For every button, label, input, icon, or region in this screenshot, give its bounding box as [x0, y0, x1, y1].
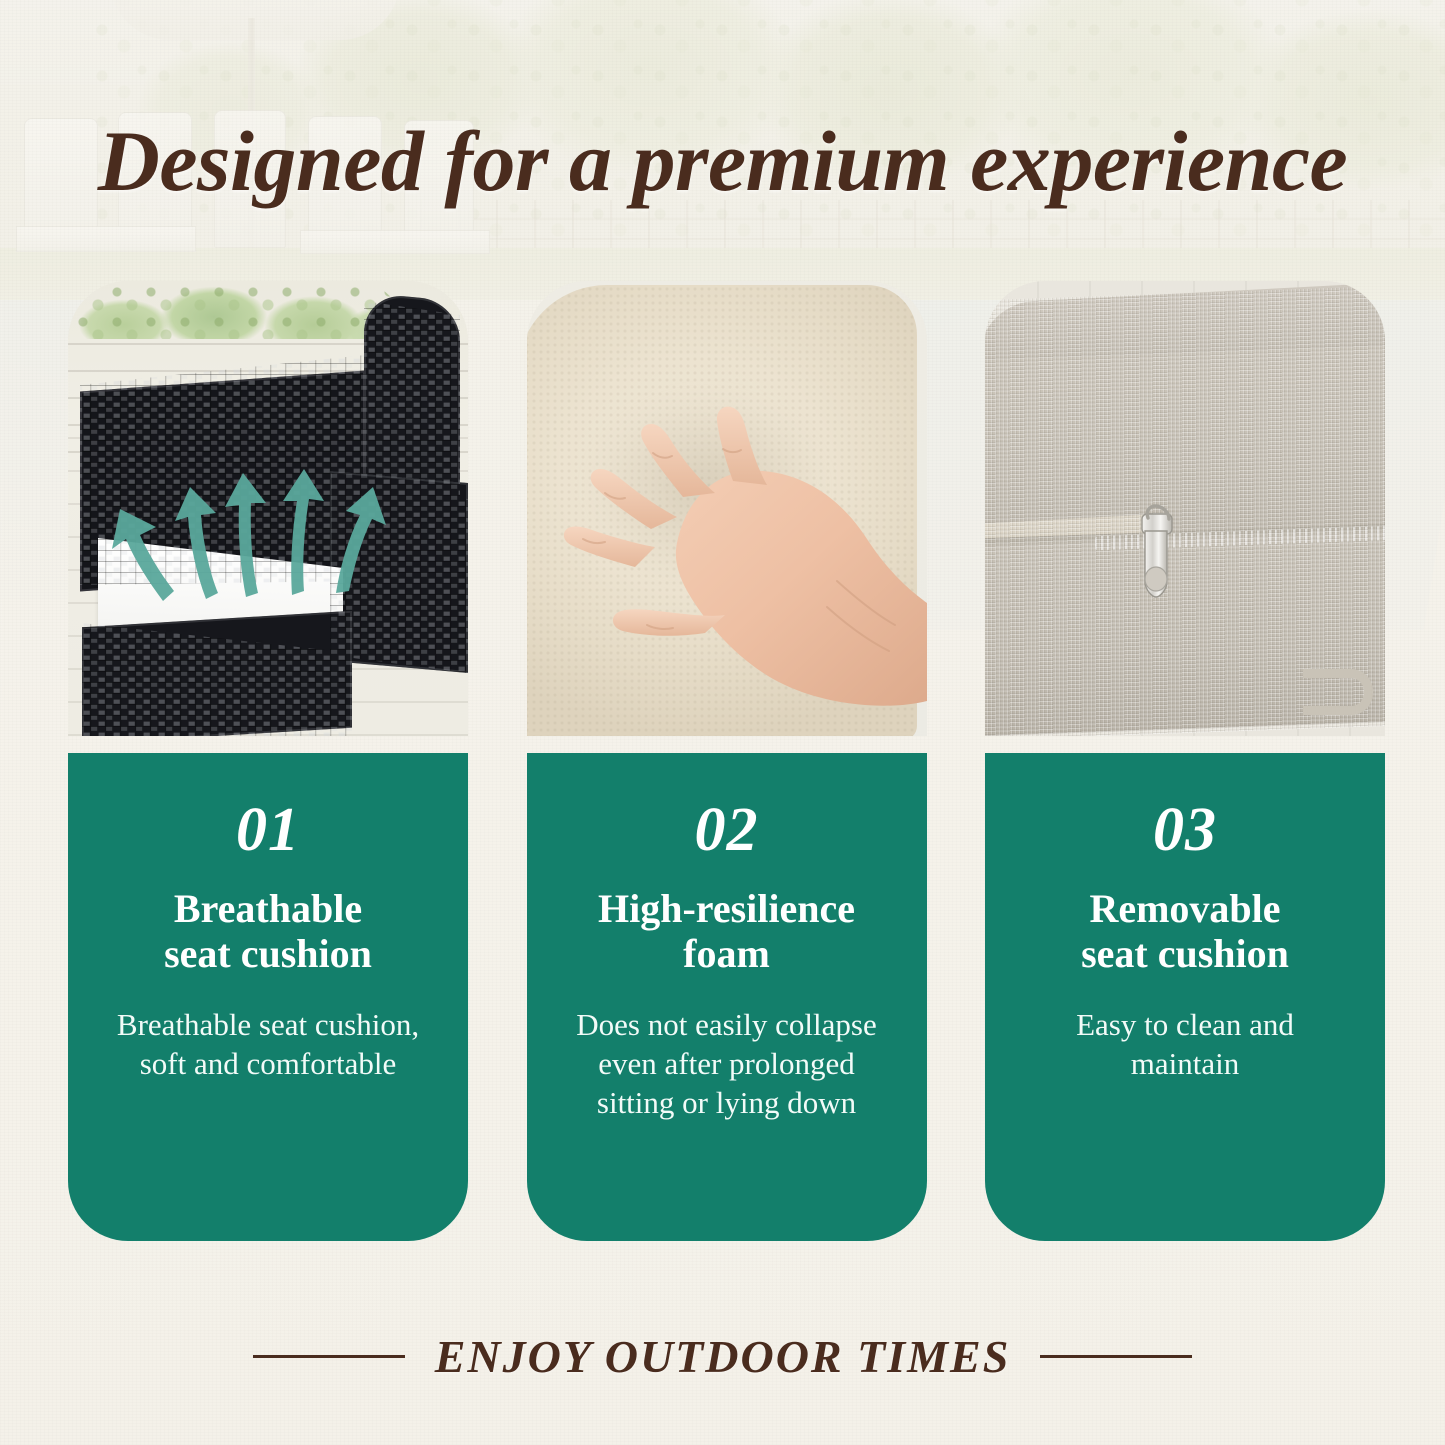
- card3-number: 03: [1007, 799, 1363, 861]
- photo2-hand-icon: [527, 281, 927, 736]
- card1-title: Breathable seat cushion: [90, 887, 446, 977]
- photo3-zipper-pull-icon: [985, 281, 1385, 736]
- card2-text-panel: 02 High-resilience foam Does not easily …: [527, 753, 927, 1241]
- card2-divider-gap: [527, 736, 927, 753]
- feature-card-3: 03 Removable seat cushion Easy to clean …: [985, 281, 1385, 1241]
- card3-text-panel: 03 Removable seat cushion Easy to clean …: [985, 753, 1385, 1241]
- feature-photo-high-resilience-foam: [527, 281, 927, 736]
- card2-number: 02: [549, 799, 905, 861]
- page-headline: Designed for a premium experience: [0, 118, 1445, 204]
- footer-banner: ENJOY OUTDOOR TIMES: [0, 1308, 1445, 1404]
- card3-description: Easy to clean and maintain: [1007, 1005, 1363, 1083]
- feature-card-1: 01 Breathable seat cushion Breathable se…: [68, 281, 468, 1241]
- card3-divider-gap: [985, 736, 1385, 753]
- card1-divider-gap: [68, 736, 468, 753]
- footer-tagline: ENJOY OUTDOOR TIMES: [435, 1330, 1011, 1383]
- feature-photo-removable-cushion: [985, 281, 1385, 736]
- feature-photo-breathable-cushion: [68, 281, 468, 736]
- card2-description: Does not easily collapse even after prol…: [549, 1005, 905, 1122]
- card1-number: 01: [90, 799, 446, 861]
- photo1-airflow-arrows-icon: [68, 281, 468, 736]
- feature-card-row: 01 Breathable seat cushion Breathable se…: [68, 281, 1385, 1241]
- card3-title: Removable seat cushion: [1007, 887, 1363, 977]
- card1-description: Breathable seat cushion, soft and comfor…: [90, 1005, 446, 1083]
- feature-card-2: 02 High-resilience foam Does not easily …: [527, 281, 927, 1241]
- footer-rule-right: [1040, 1355, 1192, 1358]
- infographic-canvas: Designed for a premium experience: [0, 0, 1445, 1445]
- footer-rule-left: [253, 1355, 405, 1358]
- card2-title: High-resilience foam: [549, 887, 905, 977]
- card1-text-panel: 01 Breathable seat cushion Breathable se…: [68, 753, 468, 1241]
